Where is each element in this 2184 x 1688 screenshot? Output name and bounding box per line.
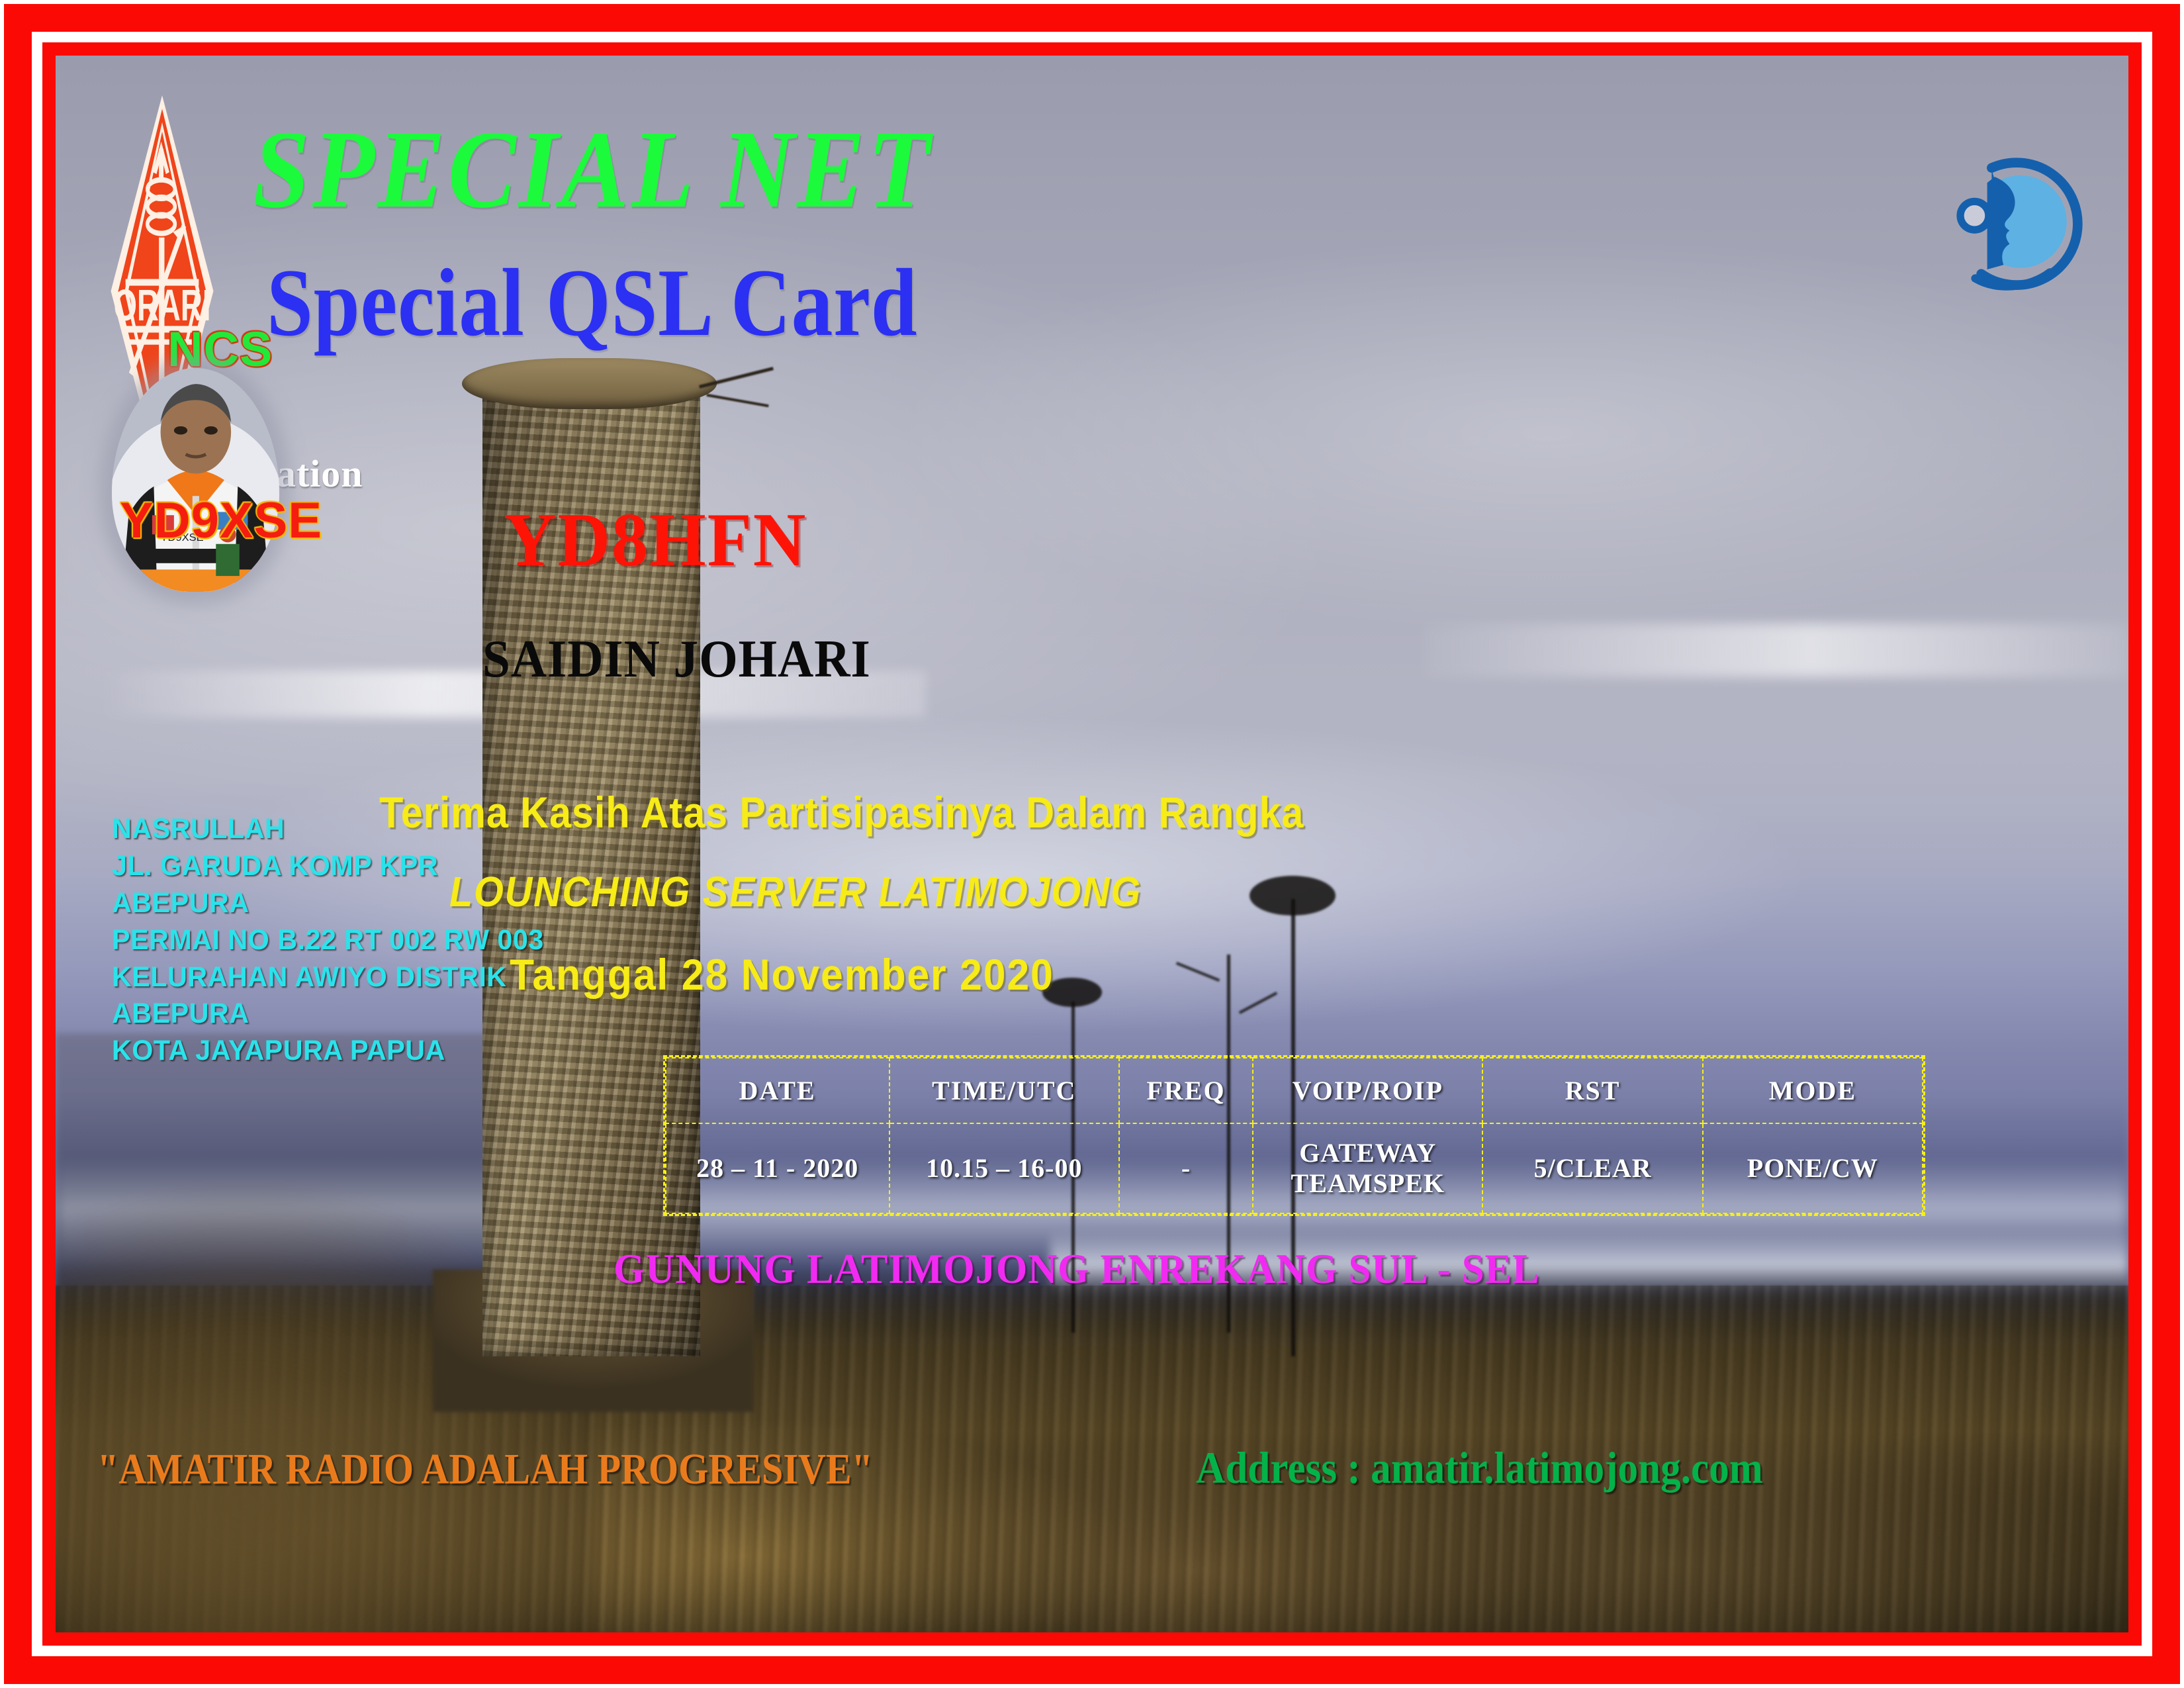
cell-mode: PONE/CW <box>1703 1123 1923 1213</box>
ncs-callsign: YD9XSE <box>120 496 322 546</box>
cell-rst: 5/CLEAR <box>1482 1123 1702 1213</box>
address-line: ABEPURA <box>112 996 544 1033</box>
qsl-card: ORARI SPECIAL NET Special QSL Card <box>0 0 2184 1688</box>
col-header-rst: RST <box>1482 1058 1702 1123</box>
address-line: JL. GARUDA KOMP KPR <box>112 848 544 885</box>
cell-time: 10.15 – 16-00 <box>889 1123 1119 1213</box>
event-date-line: Tanggal 28 November 2020 <box>510 953 1054 996</box>
address-line: NASRULLAH <box>112 811 544 848</box>
tree-crown-2 <box>1250 876 1336 915</box>
page-title: SPECIAL NET <box>253 114 933 225</box>
col-header-time: TIME/UTC <box>889 1058 1119 1123</box>
footer-website: Address : amatir.latimojong.com <box>1196 1445 1763 1490</box>
cell-voip-roip: GATEWAY TEAMSPEK <box>1253 1123 1482 1213</box>
qso-log-table: DATE TIME/UTC FREQ VOIP/ROIP RST MODE 28… <box>663 1055 1925 1216</box>
table-header-row: DATE TIME/UTC FREQ VOIP/ROIP RST MODE <box>666 1058 1923 1123</box>
col-header-voip-roip: VOIP/ROIP <box>1253 1058 1482 1123</box>
background-photo: ORARI SPECIAL NET Special QSL Card <box>56 56 2128 1632</box>
ncs-label: NCS <box>167 325 273 374</box>
col-header-date: DATE <box>666 1058 889 1123</box>
location-caption: GUNUNG LATIMOJONG ENREKANG SUL - SEL <box>614 1248 1540 1290</box>
station-callsign: YD8HFN <box>504 502 807 579</box>
address-line: KOTA JAYAPURA PAPUA <box>112 1033 544 1070</box>
table-row: 28 – 11 - 2020 10.15 – 16-00 - GATEWAY T… <box>666 1123 1923 1213</box>
page-subtitle: Special QSL Card <box>267 254 918 351</box>
address-block: NASRULLAH JL. GARUDA KOMP KPR ABEPURA PE… <box>112 811 562 1070</box>
cell-date: 28 – 11 - 2020 <box>666 1123 889 1213</box>
col-header-freq: FREQ <box>1119 1058 1253 1123</box>
cell-voip-roip-line1: GATEWAY <box>1253 1138 1482 1168</box>
footer-motto: "AMATIR RADIO ADALAH PROGRESIVE" <box>97 1448 873 1491</box>
address-line: KELURAHAN AWIYO DISTRIK <box>112 959 544 996</box>
cell-freq: - <box>1119 1123 1253 1213</box>
cloud-streak-right <box>1424 624 2128 677</box>
col-header-mode: MODE <box>1703 1058 1923 1123</box>
address-line: PERMAI NO B.22 RT 002 RW 003 <box>112 922 544 959</box>
cell-voip-roip-line2: TEAMSPEK <box>1253 1168 1482 1199</box>
address-line: ABEPURA <box>112 885 544 922</box>
headset-profile-logo <box>1948 75 2098 375</box>
cairn-cap <box>462 358 717 408</box>
operator-name: SAIDIN JOHARI <box>482 633 871 686</box>
